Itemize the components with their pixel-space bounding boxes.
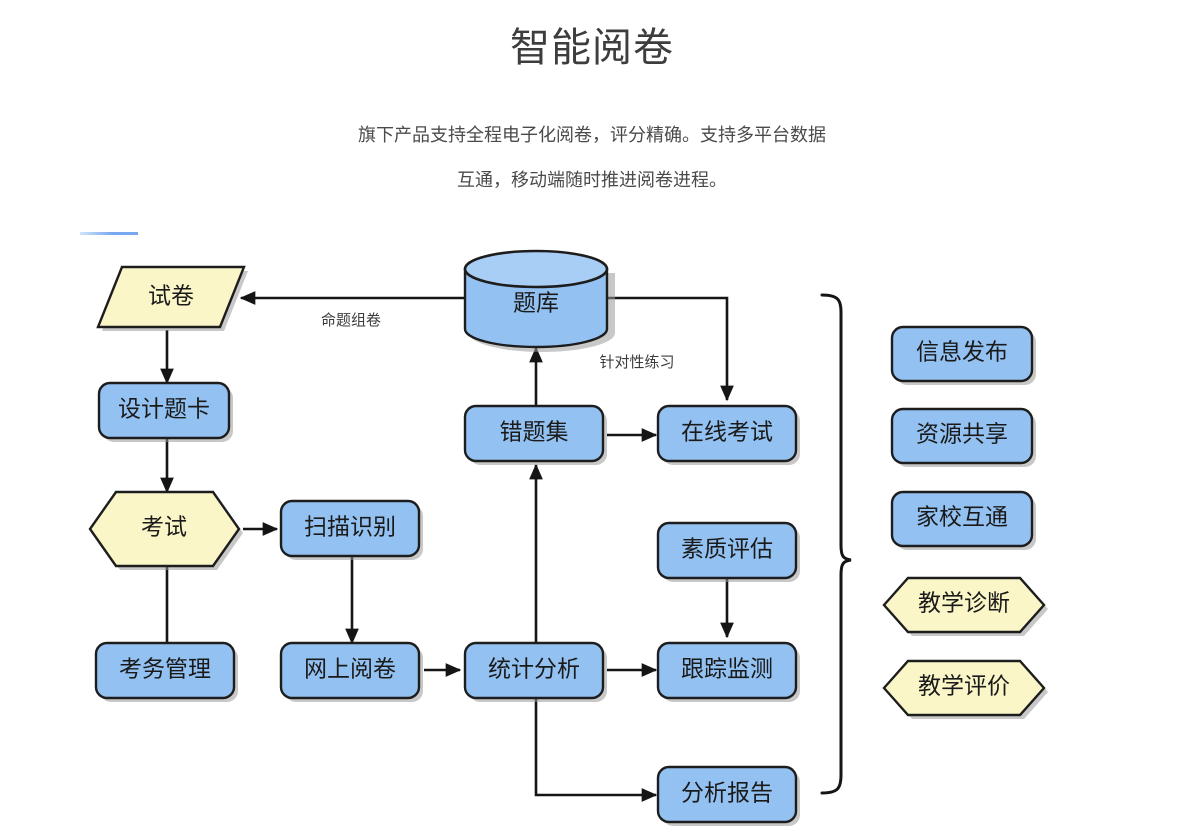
node-jxzd[interactable]: 教学诊断 (884, 578, 1048, 636)
edge-label-zdxlx: 针对性练习 (599, 354, 674, 371)
node-wsyj[interactable]: 网上阅卷 (281, 643, 423, 702)
node-xxfb[interactable]: 信息发布 (892, 327, 1036, 385)
node-jxpj-label: 教学评价 (918, 673, 1010, 698)
node-kaoshi[interactable]: 考试 (90, 492, 243, 570)
node-zxks-label: 在线考试 (681, 419, 773, 444)
node-tiku-label: 题库 (513, 290, 559, 315)
edge-tiku-to-zxks (607, 298, 727, 400)
node-smsb-label: 扫描识别 (304, 514, 396, 539)
node-smsb[interactable]: 扫描识别 (281, 501, 423, 560)
edges-layer (167, 298, 727, 795)
node-wsyj-label: 网上阅卷 (304, 656, 396, 681)
grouping-brace (822, 295, 851, 793)
node-shijuan-label: 试卷 (148, 283, 194, 308)
node-shijuan[interactable]: 试卷 (98, 267, 248, 331)
node-jxzd-label: 教学诊断 (918, 590, 1010, 615)
nodes-layer: 试卷 设计题卡 考试 考务管理 扫描识别 (90, 251, 1048, 826)
node-ctj[interactable]: 错题集 (465, 406, 607, 465)
node-tiku[interactable]: 题库 (465, 251, 615, 352)
node-xxfb-label: 信息发布 (916, 339, 1008, 364)
node-gzjc-label: 跟踪监测 (681, 656, 773, 681)
node-tjfx[interactable]: 统计分析 (465, 643, 607, 702)
node-jxpj[interactable]: 教学评价 (884, 661, 1048, 719)
node-kwgl[interactable]: 考务管理 (96, 643, 238, 702)
node-szpg-label: 素质评估 (681, 536, 773, 561)
node-jxht[interactable]: 家校互通 (892, 492, 1036, 550)
node-szpg[interactable]: 素质评估 (658, 523, 800, 582)
flowchart-diagram: 试卷 设计题卡 考试 考务管理 扫描识别 (0, 0, 1184, 835)
edge-label-mtzj: 命题组卷 (321, 311, 381, 329)
node-sjtk[interactable]: 设计题卡 (99, 383, 233, 442)
node-zxks[interactable]: 在线考试 (658, 406, 800, 465)
node-zygx[interactable]: 资源共享 (892, 409, 1036, 467)
node-zygx-label: 资源共享 (916, 421, 1008, 446)
node-jxht-label: 家校互通 (916, 504, 1008, 529)
node-ctj-label: 错题集 (500, 419, 569, 444)
edge-tjfx-to-fxbg (536, 697, 656, 795)
node-kwgl-label: 考务管理 (119, 656, 211, 681)
node-fxbg-label: 分析报告 (681, 780, 773, 805)
node-tjfx-label: 统计分析 (488, 656, 580, 681)
node-kaoshi-label: 考试 (141, 514, 187, 539)
node-sjtk-label: 设计题卡 (118, 396, 210, 421)
node-gzjc[interactable]: 跟踪监测 (658, 643, 800, 702)
node-fxbg[interactable]: 分析报告 (658, 767, 800, 826)
